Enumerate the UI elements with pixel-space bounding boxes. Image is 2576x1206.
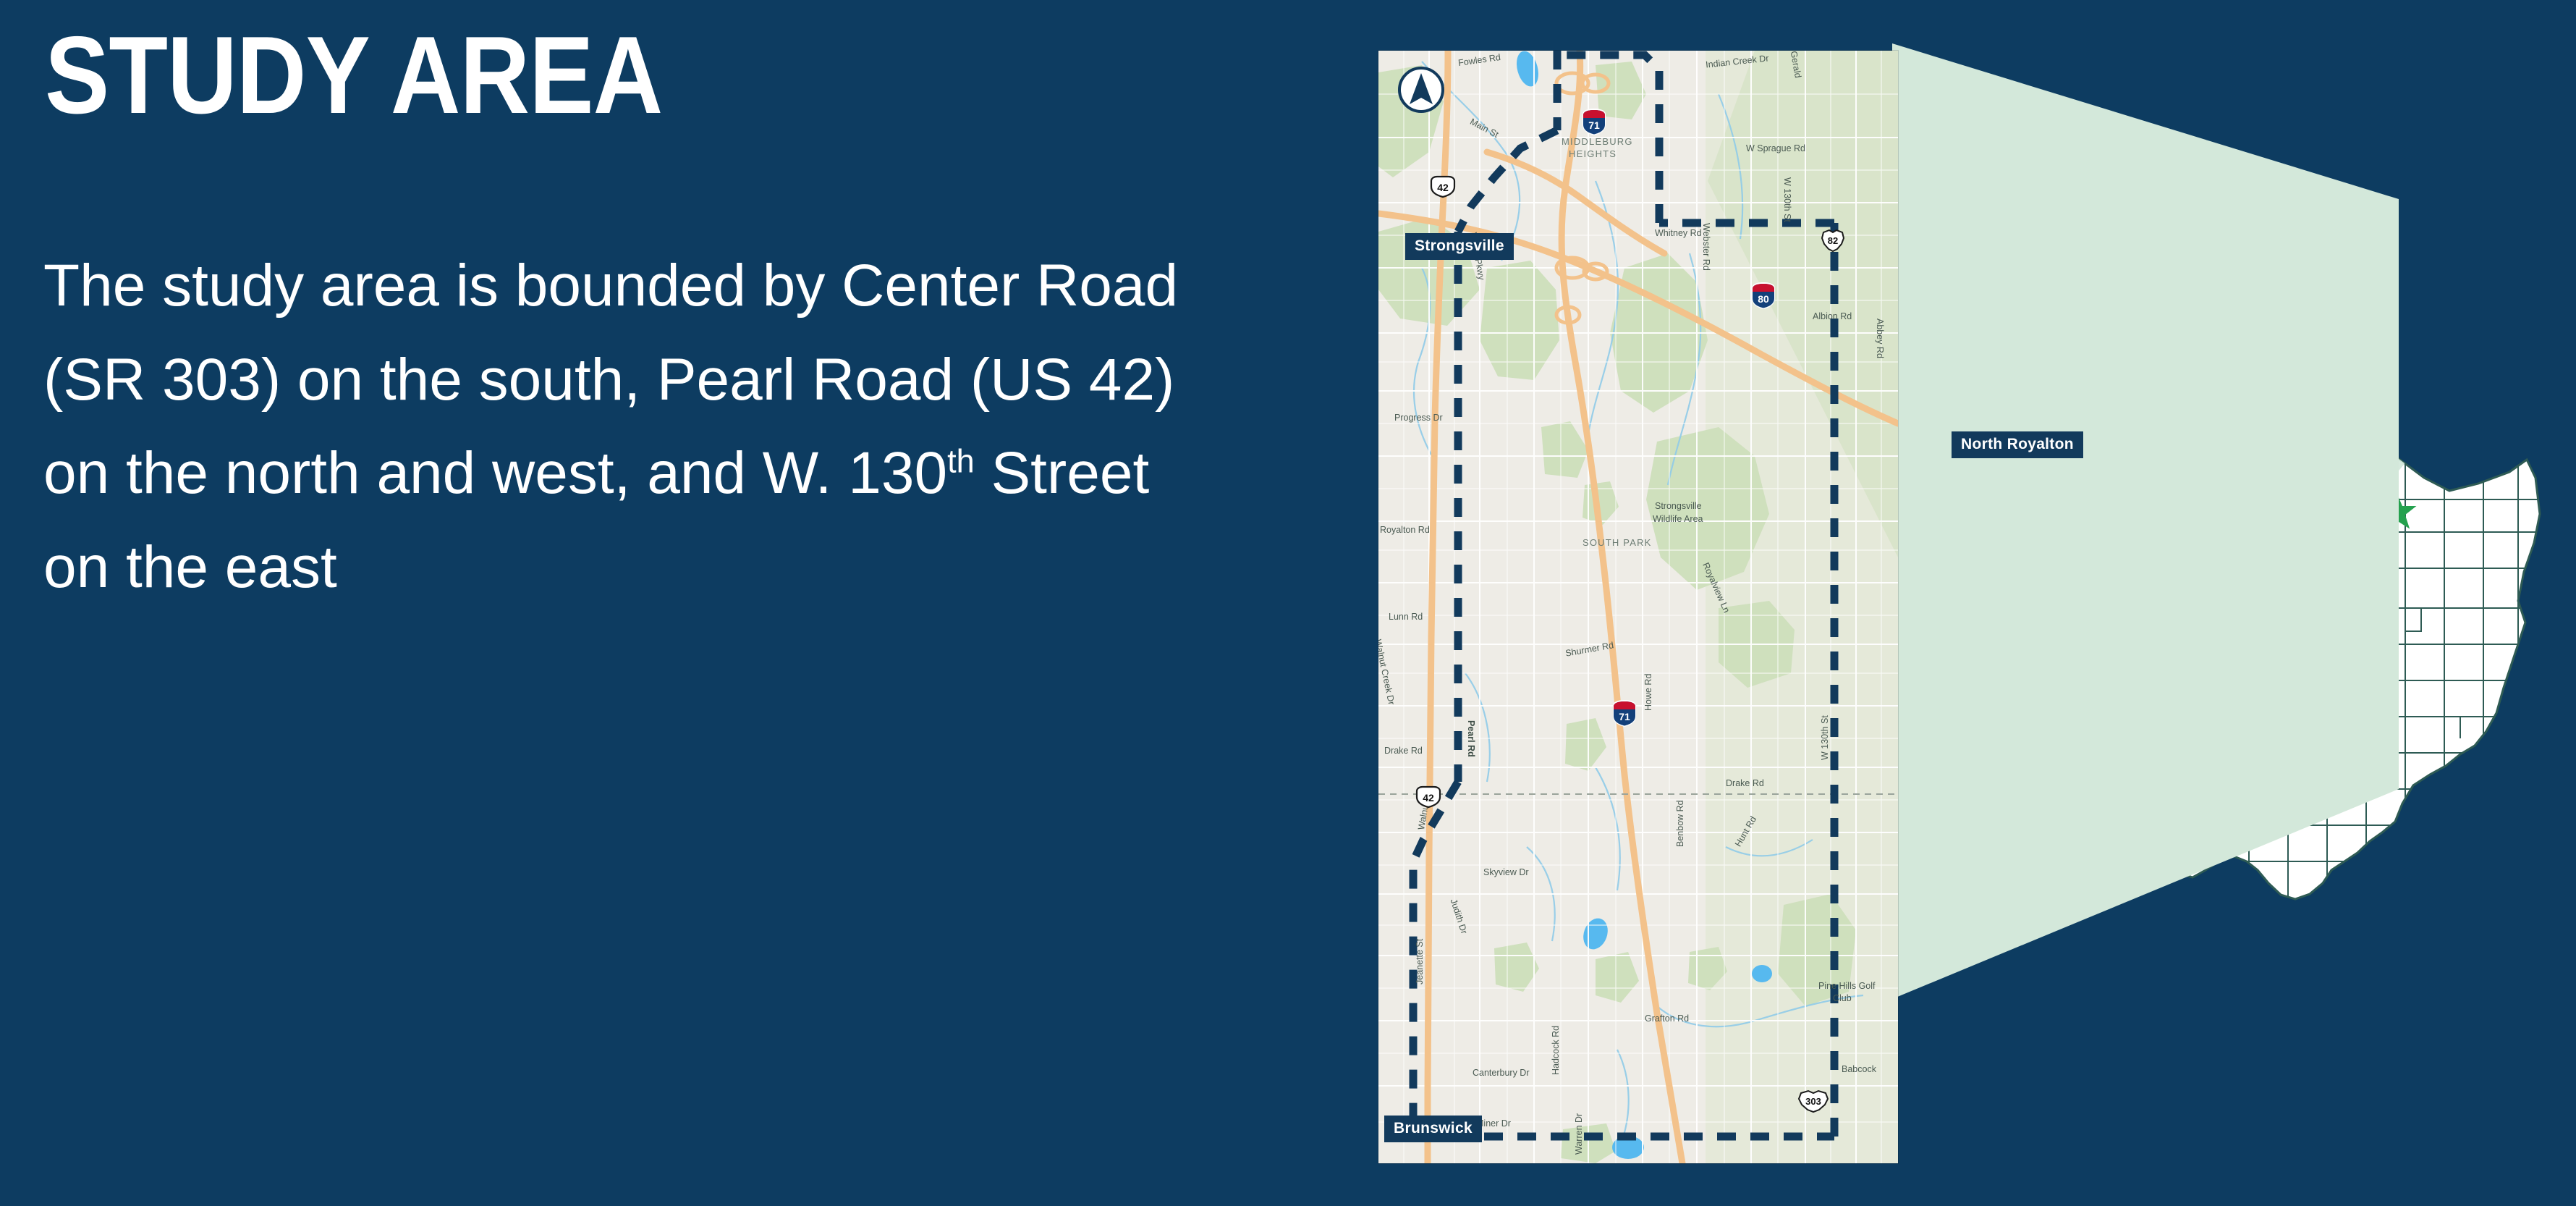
study-area-map[interactable]: Strongsville Brunswick 71 80 71 4 — [1378, 51, 1898, 1163]
map-label-drake-rd-east: Drake Rd — [1726, 778, 1764, 788]
map-label-pine-hills-golf: Pine Hills Golf — [1818, 981, 1876, 991]
city-plate-strongsville: Strongsville — [1405, 233, 1514, 260]
city-plate-brunswick: Brunswick — [1384, 1116, 1482, 1142]
city-plate-label: North Royalton — [1961, 436, 2074, 452]
north-arrow-icon — [1397, 65, 1446, 114]
map-label-lunn-rd: Lunn Rd — [1389, 612, 1423, 622]
map-label-w-sprague-rd: W Sprague Rd — [1746, 143, 1805, 153]
shield-ohio-303: 303 — [1797, 1089, 1830, 1113]
svg-text:82: 82 — [1828, 235, 1838, 246]
map-label-middleburg: MIDDLEBURG — [1562, 136, 1633, 147]
city-plate-label: Strongsville — [1415, 237, 1504, 254]
map-label-webster-rd: Webster Rd — [1701, 223, 1711, 271]
shield-ohio-82: 82 — [1820, 228, 1846, 253]
map-label-south-park: SOUTH PARK — [1583, 537, 1652, 548]
shield-interstate-80: 80 — [1750, 281, 1776, 310]
svg-text:80: 80 — [1758, 293, 1769, 305]
map-label-howe-rd: Howe Rd — [1643, 674, 1653, 711]
map-label-babcock: Babcock — [1842, 1064, 1876, 1074]
map-label-pearl-rd-north: Pearl Rd — [1466, 720, 1476, 757]
map-label-heights: HEIGHTS — [1569, 148, 1617, 159]
map-label-albion-rd: Albion Rd — [1813, 311, 1852, 321]
svg-text:303: 303 — [1805, 1096, 1821, 1107]
body-text: The study area is bounded by Center Road… — [43, 239, 1230, 614]
shield-us-42-north: 42 — [1429, 175, 1457, 198]
ohio-state-map — [2084, 427, 2576, 956]
city-plate-north-royalton: North Royalton — [1952, 431, 2083, 458]
map-label-strongsville-wildlife: Strongsville — [1655, 501, 1702, 511]
map-basemap — [1378, 51, 1898, 1163]
map-label-w-130th-st-south: W 130th St — [1820, 715, 1830, 760]
map-label-canterbury-dr: Canterbury Dr — [1473, 1068, 1530, 1078]
map-label-pine-hills-club: Club — [1833, 993, 1852, 1003]
svg-text:71: 71 — [1588, 119, 1600, 131]
map-label-benbow-rd: Benbow Rd — [1675, 800, 1685, 847]
map-label-royalton-rd: Royalton Rd — [1380, 525, 1430, 535]
body-text-superscript: th — [947, 443, 975, 480]
map-label-hadcock-rd: Hadcock Rd — [1551, 1026, 1561, 1075]
map-label-skyview-dr: Skyview Dr — [1483, 867, 1529, 877]
city-plate-label: Brunswick — [1394, 1120, 1473, 1137]
svg-text:42: 42 — [1423, 792, 1434, 804]
shield-interstate-71-south: 71 — [1611, 699, 1637, 728]
map-label-whitney-rd: Whitney Rd — [1655, 228, 1702, 238]
map-label-w-130th-st-north: W 130th St — [1782, 177, 1792, 222]
map-label-abbey-rd: Abbey Rd — [1875, 319, 1885, 358]
shield-us-42-south: 42 — [1415, 785, 1442, 809]
map-label-wildlife-area: Wildlife Area — [1653, 514, 1703, 524]
map-label-progress-dr: Progress Dr — [1394, 413, 1443, 423]
svg-text:71: 71 — [1619, 711, 1630, 722]
map-label-warren-dr: Warren Dr — [1574, 1113, 1584, 1155]
map-label-jeanette-st: Jeanette St — [1415, 939, 1425, 984]
shield-interstate-71-north: 71 — [1581, 107, 1607, 136]
map-label-drake-rd-west: Drake Rd — [1384, 746, 1423, 756]
page-title: STUDY AREA — [45, 20, 662, 130]
map-label-grafton-rd: Grafton Rd — [1645, 1013, 1689, 1024]
text-panel: STUDY AREA The study area is bounded by … — [0, 0, 1295, 1206]
svg-text:42: 42 — [1437, 182, 1449, 193]
